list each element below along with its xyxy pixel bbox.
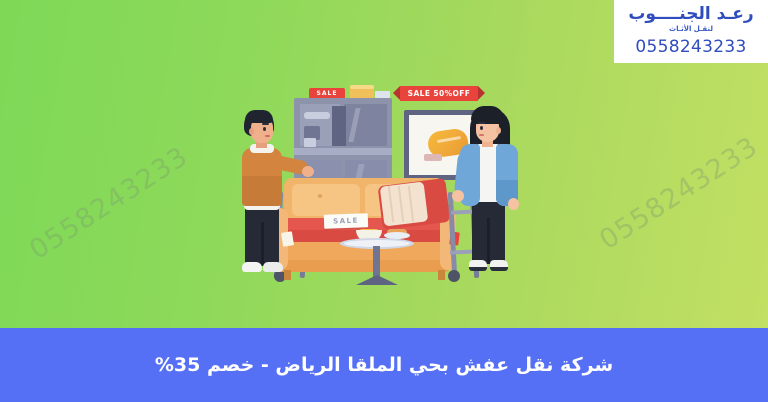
banner-canvas: 0558243233 0558243233 SALE SALE 50%OFF: [0, 0, 768, 402]
mover-left-ear: [249, 128, 254, 135]
mover-right-shoe-sole-left: [469, 267, 487, 271]
mover-left-leg-seam: [261, 222, 264, 266]
mover-left-hand: [302, 166, 314, 177]
company-logo-card[interactable]: رعـد الجنــــوب لنقـل الأثـاث 0558243233: [614, 0, 768, 63]
mover-right-hand-left: [452, 190, 464, 202]
mover-left-sweater-shadow: [242, 176, 282, 206]
furniture-moving-illustration: SALE SALE 50%OFF: [232, 72, 552, 300]
mover-left-eyebrow: [262, 123, 269, 125]
cabinet-shelf-item-a: [304, 112, 330, 119]
cabinet-sale-tag-label: SALE: [317, 90, 338, 97]
sale-ribbon: SALE 50%OFF: [400, 86, 478, 101]
hand-truck-right-wheel: [448, 270, 460, 282]
cabinet-shelf-item-c: [304, 138, 316, 147]
cabinet-top-box-lid: [350, 85, 374, 89]
mover-left-eye: [263, 127, 266, 131]
mover-right-eyebrow: [478, 122, 485, 124]
sofa-leg-right: [438, 270, 445, 280]
watermark-phone-right: 0558243233: [594, 131, 763, 256]
mover-right-mouth: [479, 134, 484, 136]
watermark-phone-left: 0558243233: [24, 141, 193, 266]
mover-right-hand-right: [508, 198, 519, 210]
mover-right-leg-seam: [487, 218, 490, 264]
sofa-sale-sign: SALE: [324, 213, 368, 229]
mover-left-mouth: [265, 135, 270, 137]
mover-right-eye: [480, 126, 483, 130]
sale-ribbon-label: SALE 50%OFF: [408, 89, 471, 98]
sofa-leg-left: [284, 270, 291, 280]
company-name: رعـد الجنــــوب: [628, 6, 753, 24]
sofa-base-shadow: [276, 260, 452, 272]
mover-right-shoe-sole-right: [490, 267, 508, 271]
framed-picture-caption-block: [424, 154, 442, 161]
company-tagline: لنقـل الأثـاث: [669, 25, 713, 33]
mover-left-hair-front: [245, 110, 273, 123]
sofa-tuft-a: [318, 194, 322, 198]
glass-table-foot: [356, 275, 398, 285]
bottom-caption-text: شركة نقل عفش بحي الملقا الرياض - خصم 35%: [155, 354, 613, 376]
company-phone-number[interactable]: 0558243233: [635, 37, 746, 57]
sofa-back-cushion-left: [292, 184, 360, 216]
mover-right-hair-front: [471, 106, 504, 124]
mover-left-shoe-left: [242, 262, 262, 272]
cabinet-middle-bar: [294, 148, 392, 155]
glass-table-stem: [373, 246, 380, 280]
sofa-sale-sign-label: SALE: [333, 217, 359, 226]
price-tag-left: [281, 231, 294, 247]
mover-right-ear: [496, 127, 501, 134]
bottom-caption-bar: شركة نقل عفش بحي الملقا الرياض - خصم 35%: [0, 328, 768, 402]
cabinet-door-panel: [332, 106, 346, 146]
mover-left-shoe-right: [263, 262, 283, 272]
